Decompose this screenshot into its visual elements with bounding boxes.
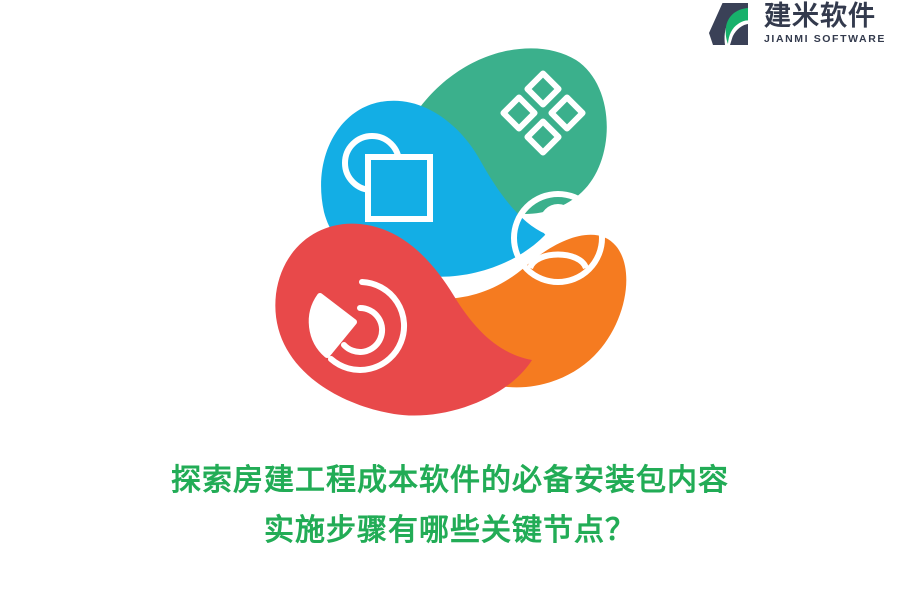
brand-name-cn: 建米软件 [764,3,876,30]
headline-line-2: 实施步骤有哪些关键节点？ [0,506,900,556]
hero-petal-graphic [264,42,636,422]
brand-name-en: JIANMI SOFTWARE [764,34,886,45]
brand-wordmark: 建米软件 JIANMI SOFTWARE [764,3,886,45]
brand-logo: 建米软件 JIANMI SOFTWARE [708,0,886,48]
jianmi-hexagon-leaf-logo-icon [708,2,754,46]
headline-line-1: 探索房建工程成本软件的必备安装包内容 [0,456,900,506]
headline: 探索房建工程成本软件的必备安装包内容 实施步骤有哪些关键节点？ [0,456,900,556]
